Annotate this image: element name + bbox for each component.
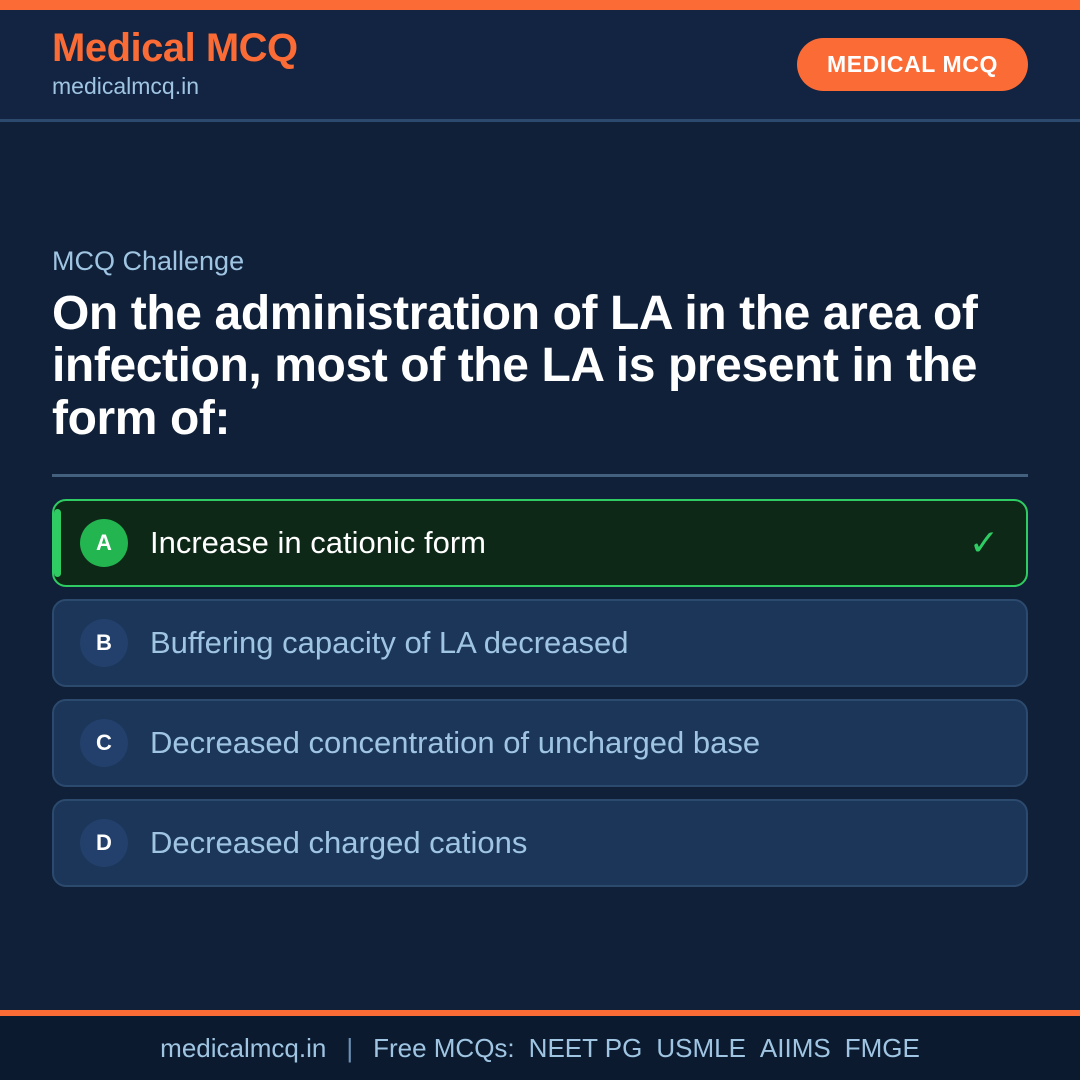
check-icon: ✓ xyxy=(964,525,1004,561)
page-header: Medical MCQ medicalmcq.in MEDICAL MCQ xyxy=(0,10,1080,122)
footer-tag-usmle: USMLE xyxy=(656,1033,746,1064)
eyebrow-label: MCQ Challenge xyxy=(52,245,1028,277)
option-row-a[interactable]: A Increase in cationic form ✓ xyxy=(52,499,1028,587)
page-footer: medicalmcq.in | Free MCQs: NEET PG USMLE… xyxy=(0,1016,1080,1080)
main-content: MCQ Challenge On the administration of L… xyxy=(0,122,1080,1010)
footer-tag-neetpg: NEET PG xyxy=(529,1033,643,1064)
option-text-d: Decreased charged cations xyxy=(150,825,964,861)
footer-tag-aiims: AIIMS xyxy=(760,1033,831,1064)
options-list: A Increase in cationic form ✓ B Bufferin… xyxy=(52,499,1028,887)
footer-separator: | xyxy=(340,1033,359,1064)
correct-accent-bar xyxy=(54,509,61,577)
brand-title: Medical MCQ xyxy=(52,27,298,69)
option-text-b: Buffering capacity of LA decreased xyxy=(150,625,964,661)
option-badge-b: B xyxy=(80,619,128,667)
option-row-b[interactable]: B Buffering capacity of LA decreased xyxy=(52,599,1028,687)
footer-tag-fmge: FMGE xyxy=(845,1033,920,1064)
top-accent-bar xyxy=(0,0,1080,10)
option-text-c: Decreased concentration of uncharged bas… xyxy=(150,725,964,761)
brand-block: Medical MCQ medicalmcq.in xyxy=(52,27,298,102)
footer-label: Free MCQs: xyxy=(373,1033,515,1064)
option-text-a: Increase in cationic form xyxy=(150,525,964,561)
brand-subtitle: medicalmcq.in xyxy=(52,72,298,102)
option-row-d[interactable]: D Decreased charged cations xyxy=(52,799,1028,887)
header-badge: MEDICAL MCQ xyxy=(797,38,1028,91)
question-text: On the administration of LA in the area … xyxy=(52,288,1028,446)
option-badge-c: C xyxy=(80,719,128,767)
footer-tags: NEET PG USMLE AIIMS FMGE xyxy=(529,1033,920,1064)
footer-site: medicalmcq.in xyxy=(160,1033,326,1064)
mcq-card: Medical MCQ medicalmcq.in MEDICAL MCQ MC… xyxy=(0,0,1080,1080)
option-row-c[interactable]: C Decreased concentration of uncharged b… xyxy=(52,699,1028,787)
question-divider xyxy=(52,474,1028,477)
option-badge-a: A xyxy=(80,519,128,567)
option-badge-d: D xyxy=(80,819,128,867)
